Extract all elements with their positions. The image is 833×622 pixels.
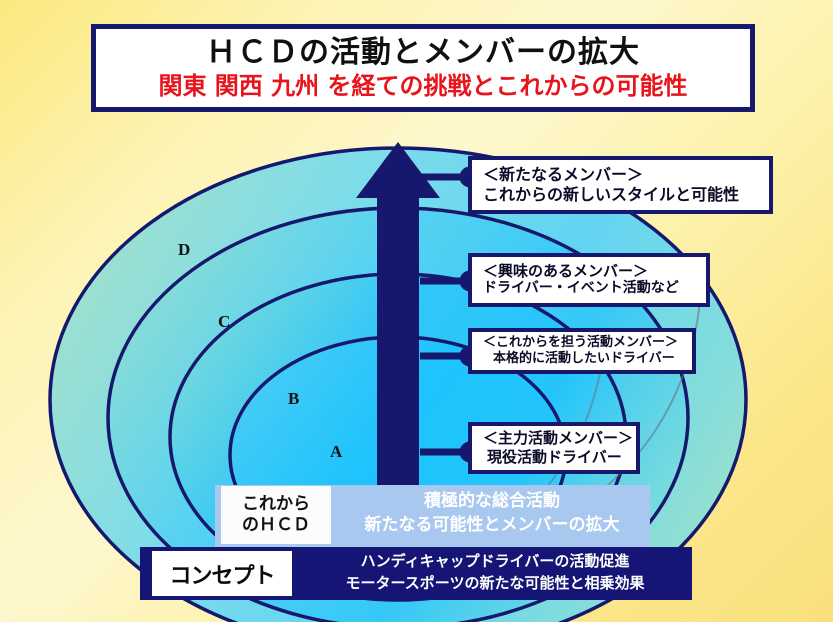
callout-core-members-line2: 現役活動ドライバー <box>483 448 627 466</box>
concept-band-line1: ハンディキャップドライバーの活動促進 <box>305 551 685 573</box>
callout-interested-members-line1: ＜興味のあるメンバー＞ <box>483 262 697 280</box>
concept-label: コンセプト <box>169 558 274 590</box>
concept-band-text: ハンディキャップドライバーの活動促進 モータースポーツの新たな可能性と相乗効果 <box>305 551 685 595</box>
page-title: ＨＣＤの活動とメンバーの拡大 <box>206 36 640 69</box>
ring-label-d: D <box>178 240 190 260</box>
page-subtitle: 関東 関西 九州 を経ての挑戦とこれからの可能性 <box>158 73 687 99</box>
activity-band-line2: 新たなる可能性とメンバーの拡大 <box>337 513 647 537</box>
ring-label-c: C <box>218 312 230 332</box>
concept-label-box: コンセプト <box>152 551 292 596</box>
ring-label-a: A <box>330 442 342 462</box>
callout-new-members: ＜新たなるメンバー＞ これからの新しいスタイルと可能性 <box>468 156 773 214</box>
activity-band-text: 積極的な総合活動 新たなる可能性とメンバーの拡大 <box>337 489 647 537</box>
title-box: ＨＣＤの活動とメンバーの拡大 関東 関西 九州 を経ての挑戦とこれからの可能性 <box>91 24 755 112</box>
ring-label-b: B <box>288 389 299 409</box>
callout-future-members-line1: ＜これからを担う活動メンバー＞ <box>483 335 683 351</box>
future-hcd-line2: のＨＣＤ <box>242 515 310 536</box>
callout-new-members-line2: これからの新しいスタイルと可能性 <box>483 185 760 205</box>
callout-interested-members-line2: ドライバー・イベント活動など <box>483 280 697 297</box>
future-hcd-box: これから のＨＣＤ <box>221 486 331 544</box>
callout-future-members: ＜これからを担う活動メンバー＞ 本格的に活動したいドライバー <box>468 328 696 374</box>
concept-band-line2: モータースポーツの新たな可能性と相乗効果 <box>305 573 685 595</box>
callout-interested-members: ＜興味のあるメンバー＞ ドライバー・イベント活動など <box>468 253 710 307</box>
future-hcd-line1: これから <box>242 494 310 515</box>
callout-new-members-line1: ＜新たなるメンバー＞ <box>483 165 760 185</box>
slide-canvas: D C B A ＜新たなるメンバー＞ これからの新しいスタイルと可能性 ＜興味の… <box>0 0 833 622</box>
activity-band-line1: 積極的な総合活動 <box>337 489 647 513</box>
callout-core-members: ＜主力活動メンバー＞ 現役活動ドライバー <box>468 422 640 474</box>
callout-future-members-line2: 本格的に活動したいドライバー <box>483 351 683 367</box>
callout-core-members-line1: ＜主力活動メンバー＞ <box>483 429 627 447</box>
